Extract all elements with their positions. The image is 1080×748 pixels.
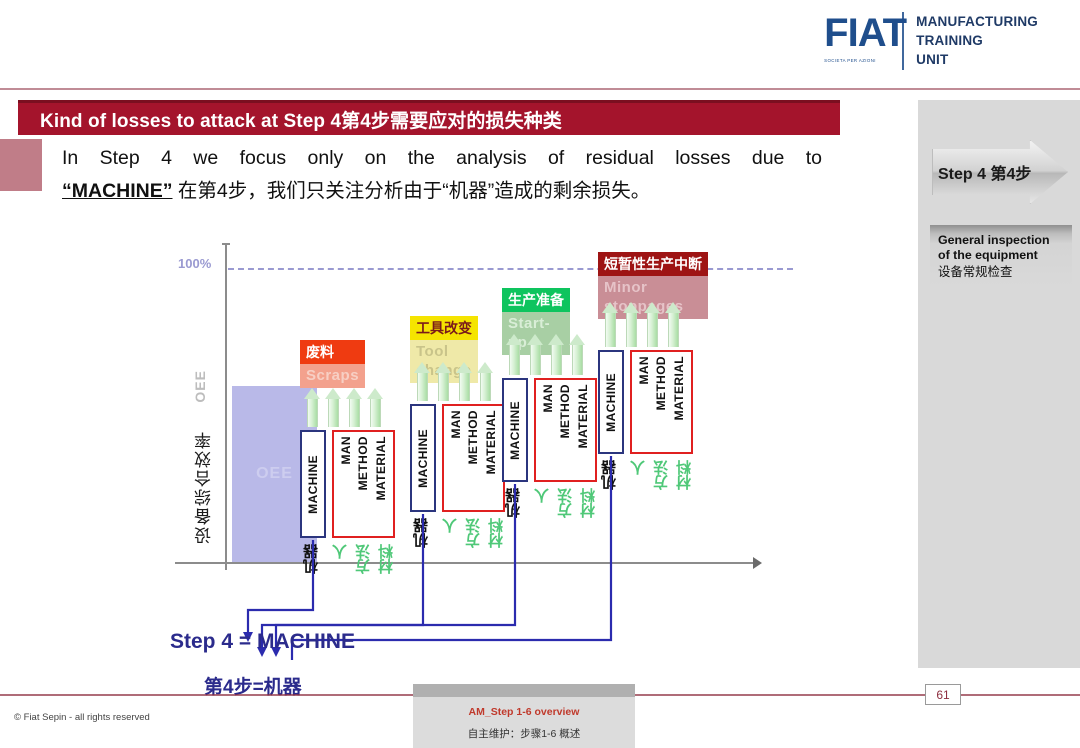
factor-labels-zh: 机器人方法材料	[602, 460, 700, 490]
footer-doc-zh: 自主维护：步骤1-6 概述	[413, 726, 635, 741]
factor-label: MATERIAL	[576, 384, 590, 448]
intro-line-en: In Step 4 we focus only on the analysis …	[62, 142, 822, 175]
reference-line-100	[228, 268, 793, 270]
factor-label: MATERIAL	[672, 356, 686, 420]
title-accent-block	[0, 139, 42, 191]
factor-label-zh: 人	[535, 488, 550, 503]
factor-label: MATERIAL	[484, 410, 498, 474]
factor-label-zh: 材料	[379, 544, 394, 574]
factor-label: METHOD	[558, 384, 572, 438]
up-arrow-icon	[569, 334, 586, 375]
machine-factor-box: MACHINE	[300, 430, 326, 538]
sidebar-inspection-box: General inspection of the equipment 设备常规…	[930, 225, 1072, 287]
fiat-subtext: SOCIETA PER AZIONI	[824, 58, 896, 63]
logo-tagline-line-1: MANUFACTURING	[916, 12, 1038, 31]
factor-boxes: MACHINEMANMETHODMATERIAL	[502, 378, 597, 482]
machine-factor-label: MACHINE	[508, 401, 522, 460]
loss-group-label-zh: 工具改变	[410, 316, 478, 340]
intro-paragraph: In Step 4 we focus only on the analysis …	[62, 142, 822, 208]
oee-loss-chart: 100% OEE 设备综合效率 OEE 废料ScrapsMACHINEMANME…	[170, 240, 790, 580]
machine-factor-label: MACHINE	[416, 429, 430, 488]
logo-divider	[902, 12, 904, 70]
factor-label: MAN	[339, 436, 353, 465]
factor-label-zh: 方法	[558, 488, 573, 518]
machine-keyword: “MACHINE”	[62, 180, 173, 202]
up-arrow-icon	[477, 362, 494, 401]
header-divider	[0, 88, 1080, 90]
x-axis-arrow-icon	[753, 557, 762, 569]
header-band: FIAT SOCIETA PER AZIONI MANUFACTURING TR…	[0, 0, 1080, 88]
brand-logo: FIAT SOCIETA PER AZIONI MANUFACTURING TR…	[824, 10, 1038, 72]
logo-tagline-line-3: UNIT	[916, 50, 1038, 69]
up-arrow-icon	[435, 362, 452, 401]
up-arrow-icon	[665, 302, 682, 347]
factor-boxes: MACHINEMANMETHODMATERIAL	[410, 404, 505, 512]
factor-boxes: MACHINEMANMETHODMATERIAL	[598, 350, 693, 454]
factor-labels-zh: 机器人方法材料	[304, 544, 402, 574]
intro-line-zh: “MACHINE” 在第4步，我们只关注分析由于“机器”造成的剩余损失。	[62, 175, 822, 208]
factor-label: METHOD	[654, 356, 668, 410]
page-number: 61	[925, 684, 961, 705]
intro-zh-text: 在第4步，我们只关注分析由于“机器”造成的剩余损失。	[178, 180, 650, 202]
up-arrow-icon	[548, 334, 565, 375]
machine-factor-box: MACHINE	[598, 350, 624, 454]
factor-label-zh: 人	[333, 544, 348, 559]
machine-factor-box: MACHINE	[410, 404, 436, 512]
factor-label: METHOD	[356, 436, 370, 490]
other-factors-box: MANMETHODMATERIAL	[442, 404, 505, 512]
page-title: Kind of losses to attack at Step 4第4步需要应…	[18, 106, 562, 133]
factor-boxes: MACHINEMANMETHODMATERIAL	[300, 430, 395, 538]
factor-label-zh: 方法	[356, 544, 371, 574]
loss-cause-arrows	[304, 388, 384, 427]
factor-label: MAN	[637, 356, 651, 385]
factor-label: MAN	[449, 410, 463, 439]
loss-cause-arrows	[414, 362, 494, 401]
loss-group-label-zh: 短暂性生产中断	[598, 252, 708, 276]
sidebar-step-label: Step 4 第4步	[938, 160, 1068, 184]
factor-label-zh: 方法	[466, 518, 481, 548]
factor-labels-zh: 机器人方法材料	[506, 488, 604, 518]
slide-title-bar: Kind of losses to attack at Step 4第4步需要应…	[18, 100, 840, 135]
y-axis-label-en: OEE	[192, 370, 208, 403]
y-axis-cap	[222, 243, 230, 245]
up-arrow-icon	[456, 362, 473, 401]
up-arrow-icon	[506, 334, 523, 375]
up-arrow-icon	[367, 388, 384, 427]
loss-group-label-en: Scraps	[300, 364, 365, 388]
x-axis	[175, 562, 755, 564]
factor-label-zh: 人	[443, 518, 458, 533]
other-factors-box: MANMETHODMATERIAL	[534, 378, 597, 482]
up-arrow-icon	[346, 388, 363, 427]
footer-doc-box: AM_Step 1-6 overview 自主维护：步骤1-6 概述	[413, 684, 635, 748]
loss-cause-arrows	[602, 302, 682, 347]
factor-label: MAN	[541, 384, 555, 413]
footer-box-strip	[413, 684, 635, 697]
machine-factor-label-zh: 机器	[414, 518, 429, 548]
machine-factor-box: MACHINE	[502, 378, 528, 482]
factor-label-zh: 材料	[489, 518, 504, 548]
factor-label-zh: 方法	[654, 460, 669, 490]
machine-factor-label: MACHINE	[306, 455, 320, 514]
y-axis-label-zh: 设备综合效率	[192, 430, 217, 544]
machine-factor-label-zh: 机器	[304, 544, 319, 574]
oee-base-bar-label: OEE	[256, 465, 293, 483]
conclusion-en: Step 4 = MACHINE	[170, 630, 355, 654]
up-arrow-icon	[644, 302, 661, 347]
factor-label-zh: 材料	[581, 488, 596, 518]
reference-line-label: 100%	[178, 256, 211, 271]
fiat-logo-icon: FIAT SOCIETA PER AZIONI	[824, 10, 896, 72]
copyright-text: © Fiat Sepin - all rights reserved	[14, 712, 150, 723]
other-factors-box: MANMETHODMATERIAL	[332, 430, 395, 538]
up-arrow-icon	[527, 334, 544, 375]
footer-doc-en: AM_Step 1-6 overview	[413, 706, 635, 718]
loss-group-label-zh: 废料	[300, 340, 365, 364]
machine-factor-label: MACHINE	[604, 373, 618, 432]
logo-tagline-line-2: TRAINING	[916, 31, 1038, 50]
inspection-label-line1: General inspection	[938, 233, 1064, 248]
factor-label-zh: 材料	[677, 460, 692, 490]
factor-labels-zh: 机器人方法材料	[414, 518, 512, 548]
fiat-wordmark: FIAT	[824, 10, 896, 56]
loss-cause-arrows	[506, 334, 586, 375]
up-arrow-icon	[414, 362, 431, 401]
other-factors-box: MANMETHODMATERIAL	[630, 350, 693, 454]
y-axis	[225, 245, 227, 570]
up-arrow-icon	[325, 388, 342, 427]
up-arrow-icon	[304, 388, 321, 427]
inspection-label-line2: of the equipment	[938, 248, 1064, 263]
factor-label: MATERIAL	[374, 436, 388, 500]
factor-label-zh: 人	[631, 460, 646, 475]
up-arrow-icon	[623, 302, 640, 347]
loss-group-caption: 废料Scraps	[300, 340, 365, 388]
loss-group-label-zh: 生产准备	[502, 288, 570, 312]
machine-factor-label-zh: 机器	[602, 460, 617, 490]
factor-label: METHOD	[466, 410, 480, 464]
logo-tagline: MANUFACTURING TRAINING UNIT	[916, 10, 1038, 69]
up-arrow-icon	[602, 302, 619, 347]
inspection-label-zh: 设备常规检查	[938, 264, 1064, 280]
machine-factor-label-zh: 机器	[506, 488, 521, 518]
